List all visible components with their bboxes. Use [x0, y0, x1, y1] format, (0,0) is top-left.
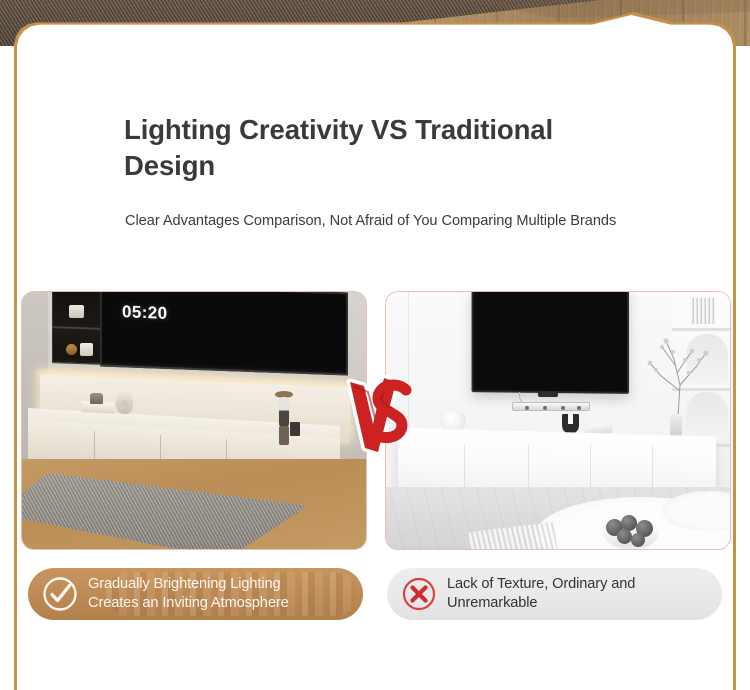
- comparison-panels: 05:20: [21, 291, 731, 550]
- figurine-body: [279, 397, 289, 427]
- verdict-text-positive: Gradually Brightening Lighting Creates a…: [88, 575, 289, 612]
- right-u-vase: [562, 414, 579, 434]
- right-book-row: [690, 298, 716, 324]
- verdict-line-2: Creates an Inviting Atmosphere: [88, 595, 289, 611]
- comparison-image-left[interactable]: 05:20: [21, 291, 367, 550]
- header-block: Lighting Creativity VS Traditional Desig…: [124, 112, 644, 184]
- left-decor-vase: [116, 392, 133, 414]
- tv-clock-label: 05:20: [122, 302, 167, 324]
- x-circle-icon: [399, 574, 439, 614]
- right-shelf-board: [672, 328, 730, 331]
- left-figurine: [274, 391, 294, 446]
- verdict-line-1: Lack of Texture, Ordinary and: [447, 576, 635, 592]
- left-niche-object-2: [66, 344, 77, 355]
- right-room-scene: [386, 292, 730, 549]
- figurine-suitcase: [290, 422, 300, 436]
- verdict-captions: Gradually Brightening Lighting Creates a…: [28, 568, 728, 623]
- promo-banner: Lighting Creativity VS Traditional Desig…: [0, 0, 750, 690]
- check-circle-icon: [40, 574, 80, 614]
- right-fruit: [617, 529, 632, 544]
- right-fruit: [631, 533, 645, 547]
- page-title: Lighting Creativity VS Traditional Desig…: [124, 112, 644, 184]
- right-fruit-bowl-foot: [620, 547, 640, 550]
- branch-icon: [644, 333, 714, 417]
- right-branch-decor: [644, 333, 714, 417]
- left-room-scene: 05:20: [22, 292, 366, 549]
- verdict-pill-negative[interactable]: Lack of Texture, Ordinary and Unremarkab…: [387, 568, 722, 620]
- figurine-legs: [279, 426, 289, 445]
- verdict-text-negative: Lack of Texture, Ordinary and Unremarkab…: [447, 575, 635, 612]
- left-niche-object-1: [69, 305, 84, 318]
- right-television: [472, 291, 629, 394]
- right-soundbar: [512, 402, 590, 411]
- page-subtitle: Clear Advantages Comparison, Not Afraid …: [125, 211, 685, 231]
- left-decor-object-1: [90, 393, 103, 404]
- verdict-line-1: Gradually Brightening Lighting: [88, 576, 281, 592]
- comparison-image-right[interactable]: [385, 291, 731, 550]
- verdict-line-2: Unremarkable: [447, 595, 537, 611]
- left-niche-object-3: [80, 343, 93, 356]
- verdict-pill-positive[interactable]: Gradually Brightening Lighting Creates a…: [28, 568, 363, 620]
